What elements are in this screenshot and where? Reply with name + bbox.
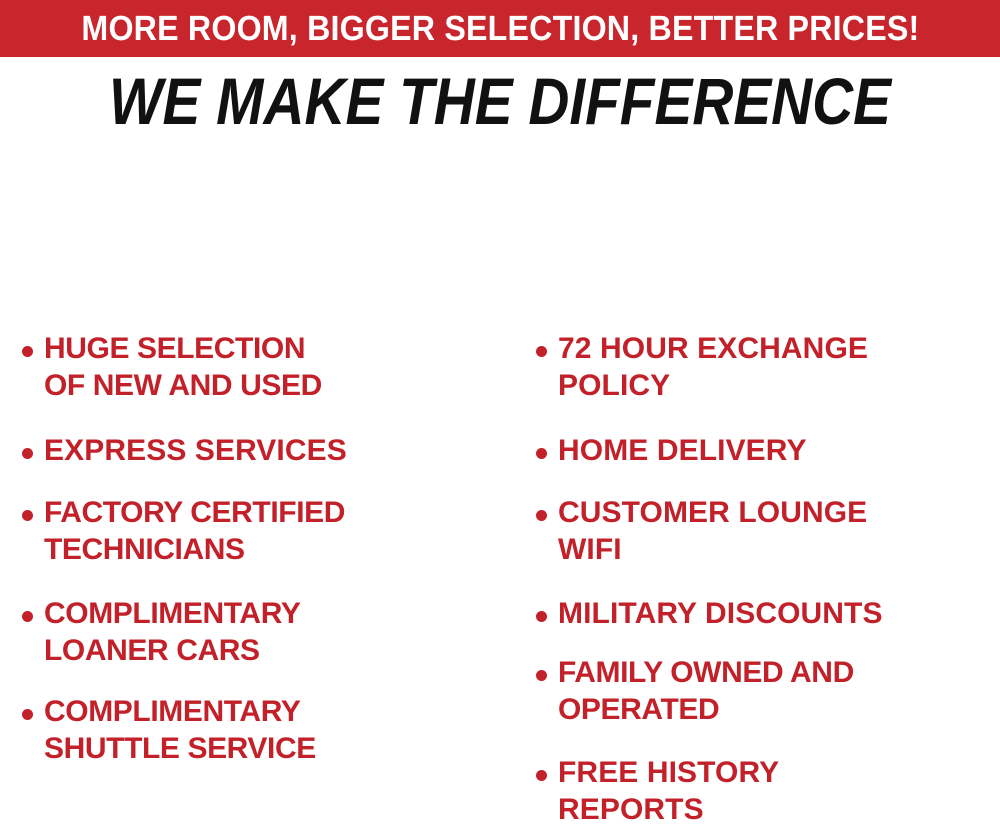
benefit-label: FAMILY OWNED AND OPERATED [558,654,854,728]
benefit-label: FREE HISTORY REPORTS [558,754,779,828]
dealership-benefits-poster: MORE ROOM, BIGGER SELECTION, BETTER PRIC… [0,0,1000,694]
bullet-dot-icon [22,709,33,720]
benefit-list-item: COMPLIMENTARY SHUTTLE SERVICE [22,693,502,767]
bullet-dot-icon [22,346,33,357]
benefit-label: 72 HOUR EXCHANGE POLICY [558,330,868,404]
benefit-list-item: FREE HISTORY REPORTS [536,754,998,828]
bullet-dot-icon [536,611,547,622]
benefit-list-item: FACTORY CERTIFIED TECHNICIANS [22,494,502,568]
benefits-column-right: 72 HOUR EXCHANGE POLICYHOME DELIVERYCUST… [510,160,1000,694]
benefits-columns: HUGE SELECTION OF NEW AND USEDEXPRESS SE… [0,160,1000,694]
benefit-label: COMPLIMENTARY SHUTTLE SERVICE [44,693,316,767]
top-banner: MORE ROOM, BIGGER SELECTION, BETTER PRIC… [0,0,1000,57]
benefit-list-item: COMPLIMENTARY LOANER CARS [22,595,502,669]
bullet-dot-icon [536,770,547,781]
benefit-list-item: 72 HOUR EXCHANGE POLICY [536,330,998,404]
benefit-list-item: FAMILY OWNED AND OPERATED [536,654,998,728]
bullet-dot-icon [22,611,33,622]
benefit-list-item: HUGE SELECTION OF NEW AND USED [22,330,502,404]
bullet-dot-icon [536,346,547,357]
benefit-label: HOME DELIVERY [558,432,807,469]
bullet-dot-icon [536,670,547,681]
benefit-label: FACTORY CERTIFIED TECHNICIANS [44,494,345,568]
benefit-label: CUSTOMER LOUNGE WIFI [558,494,867,568]
bullet-dot-icon [22,510,33,521]
benefit-label: HUGE SELECTION OF NEW AND USED [44,330,322,404]
bullet-dot-icon [536,448,547,459]
benefits-column-left: HUGE SELECTION OF NEW AND USEDEXPRESS SE… [0,160,510,694]
bullet-dot-icon [536,510,547,521]
benefit-list-item: HOME DELIVERY [536,432,998,469]
benefit-list-item: CUSTOMER LOUNGE WIFI [536,494,998,568]
benefit-label: MILITARY DISCOUNTS [558,595,883,632]
bullet-dot-icon [22,448,33,459]
benefit-list-item: MILITARY DISCOUNTS [536,595,998,632]
banner-headline: MORE ROOM, BIGGER SELECTION, BETTER PRIC… [81,11,919,46]
benefit-label: COMPLIMENTARY LOANER CARS [44,595,300,669]
benefit-label: EXPRESS SERVICES [44,432,347,469]
benefit-list-item: EXPRESS SERVICES [22,432,502,469]
page-title: WE MAKE THE DIFFERENCE [70,66,930,136]
